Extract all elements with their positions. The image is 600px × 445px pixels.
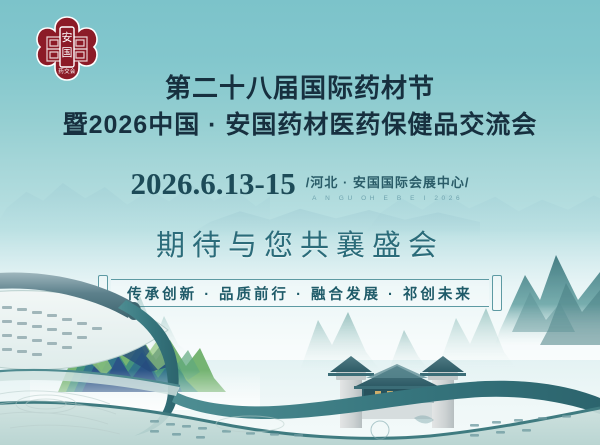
main-slogan: 期待与您共襄盛会 [0, 222, 600, 264]
contour-lines [0, 391, 284, 434]
tagline-ribbon: 传承创新 · 品质前行 · 融合发展 · 祁创未来 [98, 276, 502, 310]
headline-block: 第二十八届国际药材节 暨2026中国 · 安国药材医药保健品交流会 [0, 74, 600, 139]
headline-line-1: 第二十八届国际药材节 [0, 74, 600, 102]
tagline-left-cap [98, 275, 108, 311]
chinese-memorial-archway [328, 356, 466, 428]
tagline-right-cap [492, 275, 502, 311]
bottom-banner-scrolls [0, 370, 600, 445]
venue-block: /河北 · 安国国际会展中心/ A N GU OH E B E I 2026 [306, 168, 470, 202]
logo-char-mid: 国 [62, 46, 73, 59]
headline-line-2: 暨2026中国 · 安国药材医药保健品交流会 [0, 112, 600, 139]
tagline-text: 传承创新 · 品质前行 · 融合发展 · 祁创未来 [127, 283, 473, 304]
date-venue-row: 2026.6.13-15 /河北 · 安国国际会展中心/ A N GU OH E… [0, 168, 600, 202]
poster-canvas: 安 国 药交会 第二十八届国际药材节 暨2026中国 · 安国药材医药保健品交流… [0, 0, 600, 445]
tagline-bar: 传承创新 · 品质前行 · 融合发展 · 祁创未来 [111, 279, 489, 307]
anguo-seal-logo: 安 国 药交会 [36, 16, 98, 82]
venue-name-cn: /河北 · 安国国际会展中心/ [306, 172, 470, 191]
venue-name-en: A N GU OH E B E I 2026 [306, 195, 470, 202]
logo-char-top: 安 [62, 30, 73, 44]
event-date: 2026.6.13-15 [130, 168, 295, 199]
